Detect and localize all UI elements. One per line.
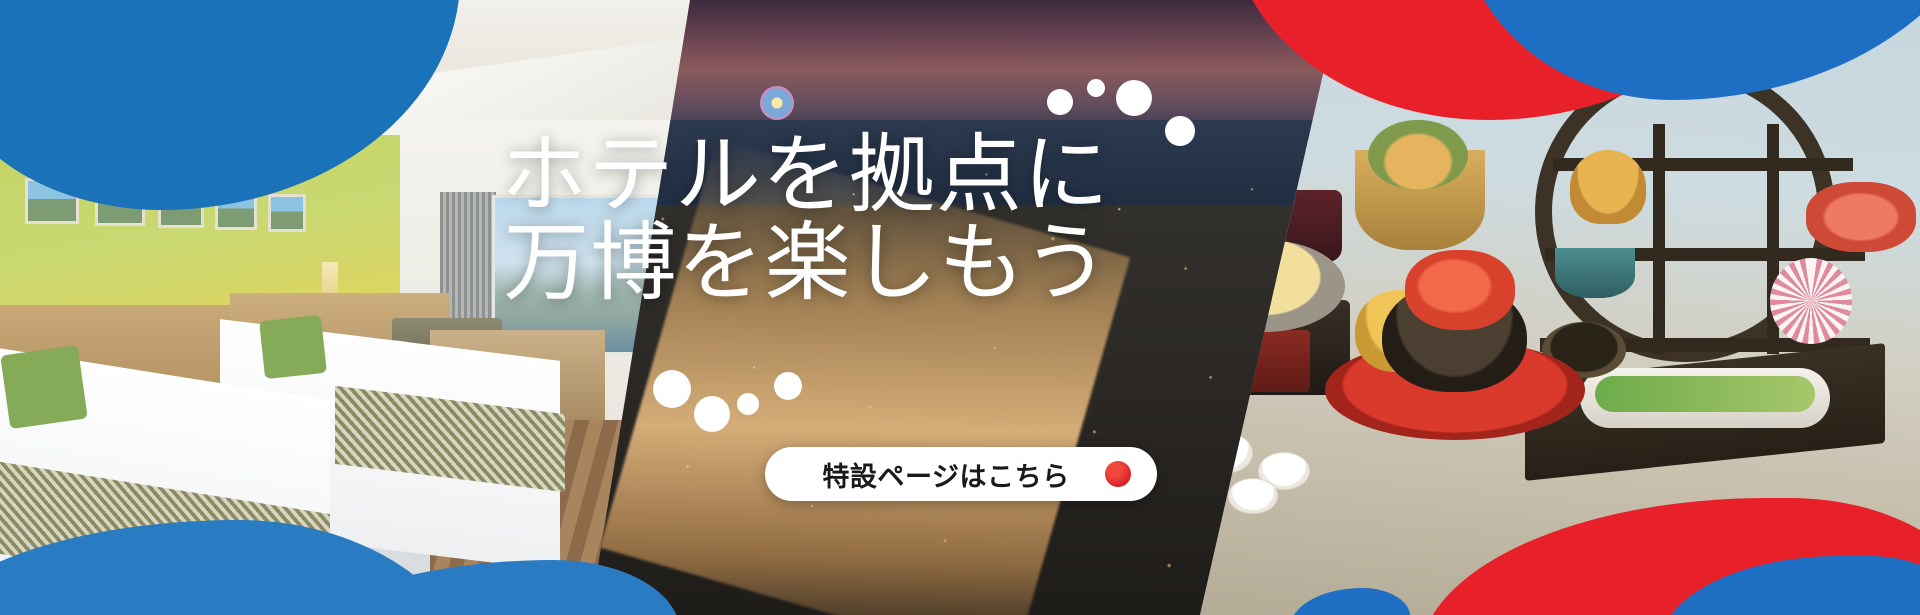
upper-dot-cluster-dot-2	[1087, 79, 1105, 97]
upper-dot-cluster-dot-4	[1165, 116, 1195, 146]
banner-headline: ホテルを拠点に 万博を楽しもう	[470, 132, 1110, 307]
green-pillow-front	[0, 345, 88, 429]
origami-sphere-decoration	[1770, 258, 1852, 344]
promotional-banner: ホテルを拠点に 万博を楽しもう 特設ページはこちら	[0, 0, 1920, 615]
lower-dot-cluster-dot-3	[737, 393, 759, 415]
bamboo-leaf-liner	[1595, 376, 1815, 412]
upper-dot-cluster-dot-1	[1047, 89, 1073, 115]
shrimp-sashimi	[1405, 250, 1515, 330]
lower-dot-cluster-dot-1	[653, 370, 691, 408]
tempura-pieces	[1368, 120, 1468, 190]
teal-small-bowl	[1555, 248, 1635, 298]
green-pillow-back	[259, 315, 327, 379]
headline-line-2: 万博を楽しもう	[470, 220, 1110, 308]
lower-dot-cluster-dot-2	[694, 396, 730, 432]
cta-label: 特設ページはこちら	[765, 455, 1105, 494]
ferris-wheel	[760, 86, 794, 120]
special-page-cta-button[interactable]: 特設ページはこちら	[765, 447, 1157, 501]
upper-dot-cluster-dot-3	[1116, 80, 1152, 116]
red-circle-icon	[1105, 461, 1131, 487]
lower-dot-cluster-dot-4	[774, 372, 802, 400]
headline-line-1: ホテルを拠点に	[470, 132, 1110, 220]
wall-picture-frames	[25, 178, 285, 238]
condiment-bowl-4	[1228, 478, 1278, 514]
souffle-dish	[1570, 150, 1646, 224]
sashimi-dish	[1806, 182, 1916, 252]
